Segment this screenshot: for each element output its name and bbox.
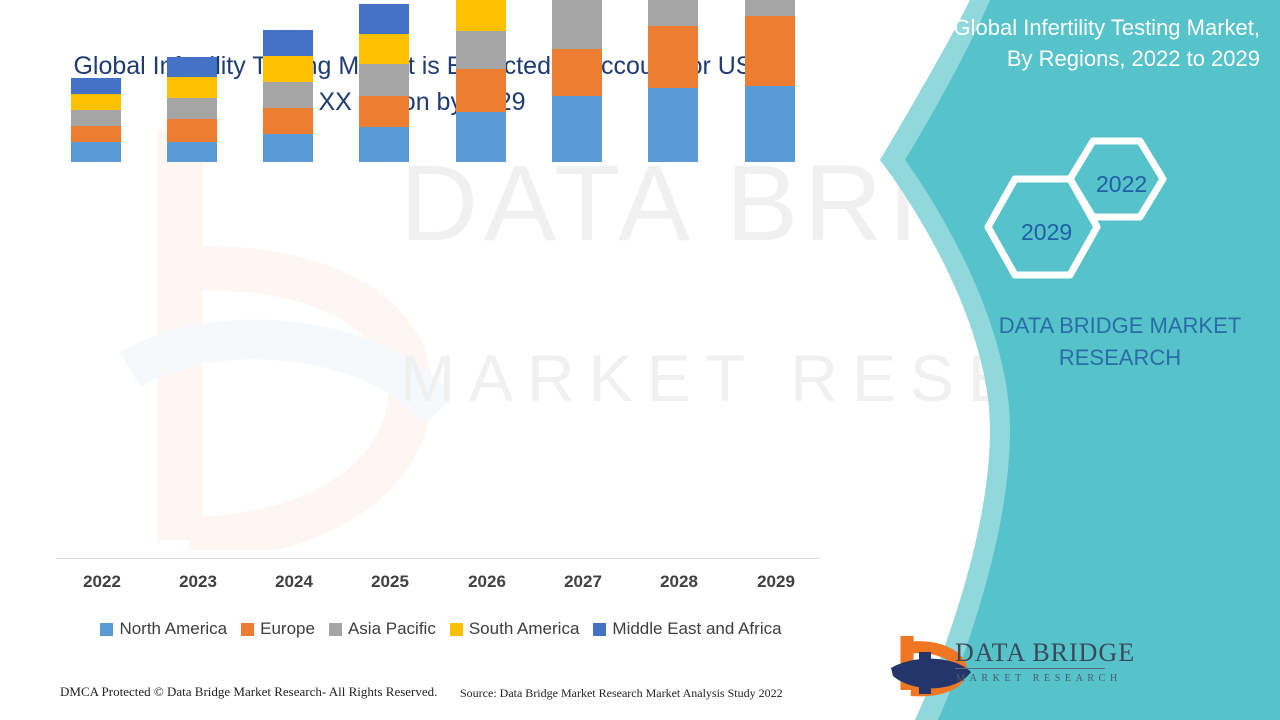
bar-segment-europe-2024[interactable] xyxy=(263,108,313,134)
x-label-2024: 2024 xyxy=(249,572,339,592)
bar-segment-asia-pacific-2022[interactable] xyxy=(71,110,121,126)
x-label-2028: 2028 xyxy=(634,572,724,592)
bar-segment-europe-2025[interactable] xyxy=(359,96,409,127)
footer-source: Source: Data Bridge Market Research Mark… xyxy=(460,686,783,701)
x-label-2025: 2025 xyxy=(345,572,435,592)
legend-item-asia-pacific[interactable]: Asia Pacific xyxy=(329,619,436,639)
legend-swatch-icon xyxy=(329,623,342,636)
legend-label: Asia Pacific xyxy=(348,619,436,639)
bar-segment-europe-2029[interactable] xyxy=(745,16,795,86)
x-label-2027: 2027 xyxy=(538,572,628,592)
bar-stack-2028[interactable] xyxy=(648,0,698,162)
bar-segment-south-america-2025[interactable] xyxy=(359,34,409,64)
bar-segment-north-america-2028[interactable] xyxy=(648,88,698,162)
bar-segment-south-america-2026[interactable] xyxy=(456,0,506,31)
logo-subtitle: MARKET RESEARCH xyxy=(956,673,1122,684)
legend-swatch-icon xyxy=(241,623,254,636)
bar-segment-north-america-2025[interactable] xyxy=(359,127,409,162)
bar-stack-2029[interactable] xyxy=(745,0,795,162)
chart-legend: North AmericaEuropeAsia PacificSouth Ame… xyxy=(56,616,826,642)
legend-label: North America xyxy=(119,619,227,639)
bar-segment-europe-2027[interactable] xyxy=(552,49,602,96)
bar-segment-asia-pacific-2025[interactable] xyxy=(359,64,409,96)
infographic-canvas: DATA BRIDGE MARKET RESEARCH Global Infer… xyxy=(0,0,1280,720)
legend-item-europe[interactable]: Europe xyxy=(241,619,315,639)
bar-segment-middle-east-and-africa-2023[interactable] xyxy=(167,57,217,77)
panel-title: Global Infertility Testing Market, By Re… xyxy=(930,12,1260,74)
bar-stack-2027[interactable] xyxy=(552,0,602,162)
bar-segment-south-america-2023[interactable] xyxy=(167,77,217,98)
bar-segment-middle-east-and-africa-2022[interactable] xyxy=(71,78,121,94)
legend-label: Europe xyxy=(260,619,315,639)
bar-stack-2022[interactable] xyxy=(71,78,121,162)
bar-stack-2026[interactable] xyxy=(456,0,506,162)
bar-segment-north-america-2027[interactable] xyxy=(552,96,602,162)
bar-segment-middle-east-and-africa-2025[interactable] xyxy=(359,4,409,34)
bar-segment-europe-2023[interactable] xyxy=(167,119,217,142)
legend-swatch-icon xyxy=(450,623,463,636)
bar-stack-2024[interactable] xyxy=(263,30,313,162)
bar-segment-north-america-2022[interactable] xyxy=(71,142,121,162)
legend-swatch-icon xyxy=(100,623,113,636)
legend-item-middle-east-and-africa[interactable]: Middle East and Africa xyxy=(593,619,781,639)
bar-segment-north-america-2024[interactable] xyxy=(263,134,313,162)
bar-segment-north-america-2023[interactable] xyxy=(167,142,217,162)
x-axis-labels: 2022 2023 2024 2025 2026 2027 2028 2029 xyxy=(56,572,820,600)
bar-segment-asia-pacific-2024[interactable] xyxy=(263,82,313,108)
bar-segment-north-america-2026[interactable] xyxy=(456,112,506,162)
panel-brand-text: DATA BRIDGE MARKET RESEARCH xyxy=(960,310,1280,374)
bar-segment-asia-pacific-2027[interactable] xyxy=(552,0,602,49)
x-label-2029: 2029 xyxy=(731,572,821,592)
hexagon-badges xyxy=(975,135,1185,285)
legend-item-north-america[interactable]: North America xyxy=(100,619,227,639)
bar-segment-asia-pacific-2026[interactable] xyxy=(456,31,506,69)
x-label-2022: 2022 xyxy=(57,572,147,592)
bar-segment-europe-2028[interactable] xyxy=(648,26,698,88)
logo-title: DATA BRIDGE xyxy=(955,638,1135,668)
bar-segment-europe-2026[interactable] xyxy=(456,69,506,112)
bar-segment-asia-pacific-2023[interactable] xyxy=(167,98,217,119)
x-label-2023: 2023 xyxy=(153,572,243,592)
bar-stack-2023[interactable] xyxy=(167,57,217,162)
x-label-2026: 2026 xyxy=(442,572,532,592)
bar-segment-south-america-2024[interactable] xyxy=(263,56,313,82)
legend-item-south-america[interactable]: South America xyxy=(450,619,580,639)
chart-axis-line xyxy=(56,558,820,559)
footer-copyright: DMCA Protected © Data Bridge Market Rese… xyxy=(60,684,437,700)
bar-segment-north-america-2029[interactable] xyxy=(745,86,795,162)
logo-divider xyxy=(955,668,1105,669)
bar-stack-2025[interactable] xyxy=(359,4,409,162)
bar-segment-south-america-2022[interactable] xyxy=(71,94,121,110)
bar-segment-europe-2022[interactable] xyxy=(71,126,121,142)
legend-label: Middle East and Africa xyxy=(612,619,781,639)
hexagon-2029-label: 2029 xyxy=(1021,219,1072,246)
legend-swatch-icon xyxy=(593,623,606,636)
bar-segment-asia-pacific-2029[interactable] xyxy=(745,0,795,16)
watermark-logo-icon xyxy=(120,120,450,550)
hexagon-2022-label: 2022 xyxy=(1096,171,1147,198)
bar-segment-middle-east-and-africa-2024[interactable] xyxy=(263,30,313,56)
legend-label: South America xyxy=(469,619,580,639)
bar-segment-asia-pacific-2028[interactable] xyxy=(648,0,698,26)
